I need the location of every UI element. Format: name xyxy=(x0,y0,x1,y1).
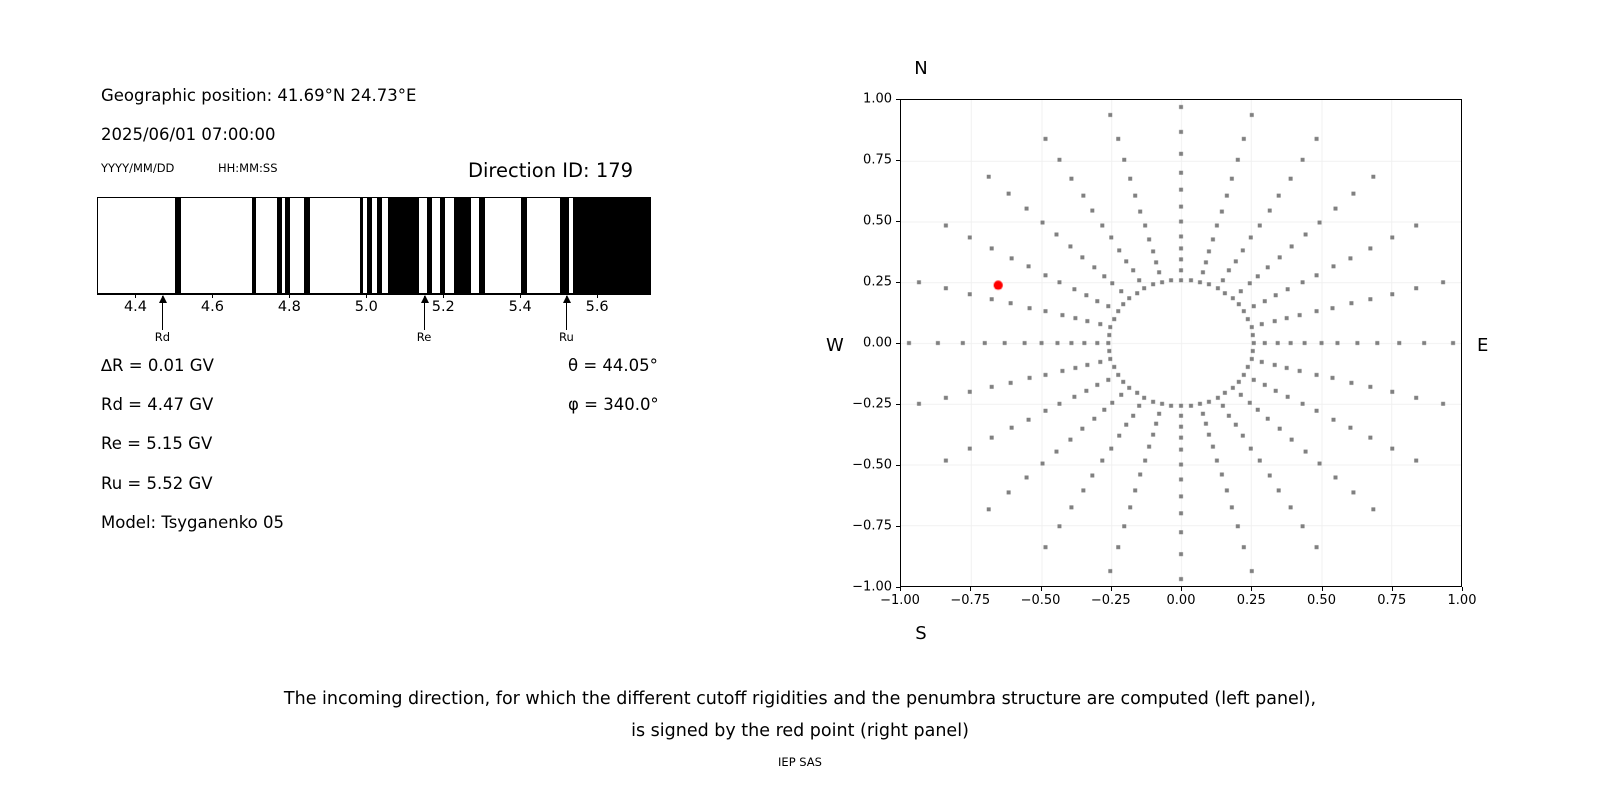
penumbra-tick-mark xyxy=(212,294,213,298)
penumbra-bar xyxy=(97,197,651,294)
footer-credit: IEP SAS xyxy=(0,755,1600,769)
parameter-list-right: θ = 44.05° φ = 340.0° xyxy=(568,356,659,434)
compass-west-label: W xyxy=(826,335,844,356)
penumbra-chart xyxy=(97,197,651,294)
map-x-tick-label: 1.00 xyxy=(1448,593,1477,608)
cutoff-arrow-ru xyxy=(566,296,567,330)
param-rd: Rd = 4.47 GV xyxy=(101,395,284,434)
map-y-tick-mark xyxy=(896,99,900,100)
map-x-tick-label: −0.25 xyxy=(1091,593,1131,608)
map-x-tick-label: −0.75 xyxy=(950,593,990,608)
map-x-tick-mark xyxy=(1041,587,1042,591)
map-x-tick-mark xyxy=(1392,587,1393,591)
map-x-tick-mark xyxy=(900,587,901,591)
time-format-hint: HH:MM:SS xyxy=(218,161,278,175)
cutoff-arrow-re xyxy=(424,296,425,330)
parameter-list-left: ∆R = 0.01 GV Rd = 4.47 GV Re = 5.15 GV R… xyxy=(101,356,284,552)
map-x-tick-mark xyxy=(1322,587,1323,591)
penumbra-blocked-band xyxy=(479,198,485,293)
penumbra-axis: 4.44.64.85.05.25.45.6RdReRu xyxy=(97,294,651,354)
penumbra-tick-mark xyxy=(597,294,598,298)
map-y-tick-mark xyxy=(896,465,900,466)
cutoff-label-ru: Ru xyxy=(559,330,574,344)
penumbra-tick-mark xyxy=(135,294,136,298)
map-y-tick-label: 0.50 xyxy=(838,214,892,229)
param-theta: θ = 44.05° xyxy=(568,356,659,395)
map-x-tick-mark xyxy=(1181,587,1182,591)
penumbra-tick-label: 5.0 xyxy=(355,299,378,315)
map-y-tick-label: −1.00 xyxy=(838,580,892,595)
penumbra-blocked-band xyxy=(377,198,382,293)
map-y-tick-label: 0.25 xyxy=(838,275,892,290)
datetime-label: 2025/06/01 07:00:00 xyxy=(101,125,275,144)
map-x-tick-label: 0.75 xyxy=(1377,593,1406,608)
cutoff-label-rd: Rd xyxy=(155,330,170,344)
penumbra-blocked-band xyxy=(388,198,419,293)
geographic-position-label: Geographic position: 41.69°N 24.73°E xyxy=(101,86,416,105)
map-y-tick-label: 0.00 xyxy=(838,336,892,351)
param-ru: Ru = 5.52 GV xyxy=(101,474,284,513)
penumbra-blocked-band xyxy=(304,198,310,293)
penumbra-tick-label: 4.6 xyxy=(201,299,224,315)
penumbra-tick-mark xyxy=(443,294,444,298)
map-x-tick-label: 0.00 xyxy=(1167,593,1196,608)
penumbra-blocked-band xyxy=(252,198,257,293)
penumbra-tick-mark xyxy=(520,294,521,298)
map-x-tick-label: 0.25 xyxy=(1237,593,1266,608)
penumbra-blocked-band xyxy=(367,198,372,293)
map-y-tick-label: −0.50 xyxy=(838,458,892,473)
penumbra-tick-label: 5.4 xyxy=(509,299,532,315)
penumbra-tick-label: 4.4 xyxy=(124,299,147,315)
penumbra-blocked-band xyxy=(360,198,364,293)
map-y-tick-mark xyxy=(896,404,900,405)
map-x-tick-label: −1.00 xyxy=(880,593,920,608)
left-panel: Geographic position: 41.69°N 24.73°E 202… xyxy=(0,0,760,620)
map-x-tick-label: −0.50 xyxy=(1021,593,1061,608)
param-model: Model: Tsyganenko 05 xyxy=(101,513,284,552)
map-y-tick-label: −0.25 xyxy=(838,397,892,412)
map-y-tick-label: 1.00 xyxy=(838,92,892,107)
compass-south-label: S xyxy=(915,623,926,644)
direction-scatter-canvas xyxy=(901,100,1461,586)
map-x-tick-mark xyxy=(1462,587,1463,591)
map-y-tick-mark xyxy=(896,282,900,283)
param-phi: φ = 340.0° xyxy=(568,395,659,434)
penumbra-blocked-band xyxy=(560,198,570,293)
penumbra-tick-mark xyxy=(366,294,367,298)
penumbra-blocked-band xyxy=(427,198,432,293)
map-y-tick-mark xyxy=(896,160,900,161)
penumbra-tick-label: 5.6 xyxy=(586,299,609,315)
penumbra-blocked-band xyxy=(521,198,527,293)
map-x-tick-mark xyxy=(1251,587,1252,591)
penumbra-blocked-band xyxy=(440,198,445,293)
map-x-tick-mark xyxy=(970,587,971,591)
penumbra-tick-mark xyxy=(289,294,290,298)
penumbra-tick-label: 5.2 xyxy=(432,299,455,315)
compass-north-label: N xyxy=(914,58,927,79)
param-re: Re = 5.15 GV xyxy=(101,434,284,473)
map-y-tick-mark xyxy=(896,221,900,222)
penumbra-blocked-band xyxy=(573,198,651,293)
direction-id-label: Direction ID: 179 xyxy=(468,159,633,182)
caption-line-1: The incoming direction, for which the di… xyxy=(0,683,1600,715)
param-delta-r: ∆R = 0.01 GV xyxy=(101,356,284,395)
map-y-tick-mark xyxy=(896,526,900,527)
direction-map-panel: −1.00−0.75−0.50−0.250.000.250.500.751.00… xyxy=(760,0,1600,660)
cutoff-arrow-rd xyxy=(162,296,163,330)
penumbra-blocked-band xyxy=(454,198,471,293)
map-y-tick-mark xyxy=(896,343,900,344)
map-y-tick-label: 0.75 xyxy=(838,153,892,168)
plot-frame xyxy=(900,99,1462,587)
penumbra-blocked-band xyxy=(175,198,181,293)
penumbra-blocked-band xyxy=(285,198,290,293)
date-format-hint: YYYY/MM/DD xyxy=(101,161,174,175)
compass-east-label: E xyxy=(1477,335,1488,356)
caption-line-2: is signed by the red point (right panel) xyxy=(0,715,1600,747)
cutoff-label-re: Re xyxy=(417,330,432,344)
map-y-tick-label: −0.75 xyxy=(838,519,892,534)
penumbra-tick-label: 4.8 xyxy=(278,299,301,315)
penumbra-blocked-band xyxy=(277,198,282,293)
map-x-tick-label: 0.50 xyxy=(1307,593,1336,608)
map-x-tick-mark xyxy=(1111,587,1112,591)
map-y-tick-mark xyxy=(896,587,900,588)
figure-caption: The incoming direction, for which the di… xyxy=(0,683,1600,747)
